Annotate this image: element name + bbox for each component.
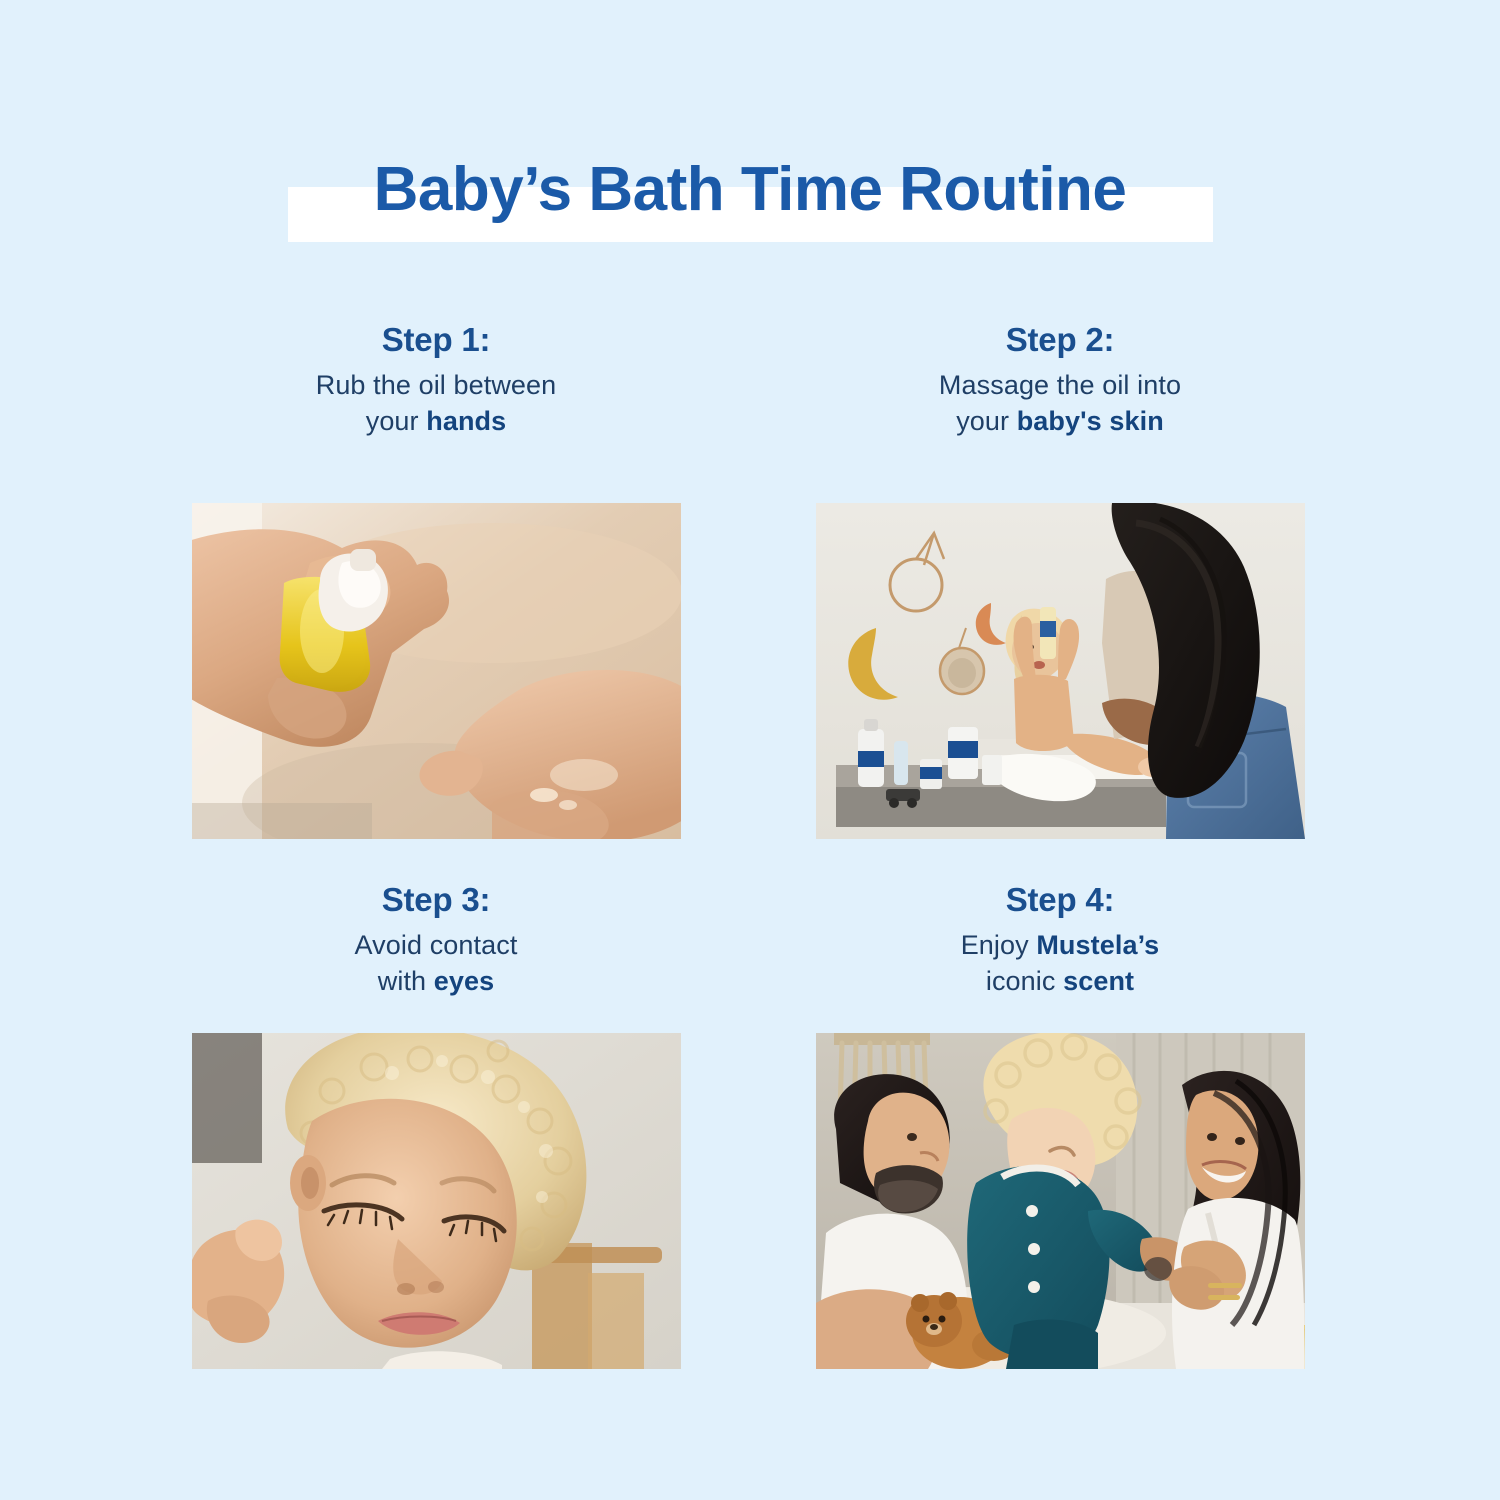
step-2-desc-line2-prefix: your [956, 406, 1017, 436]
step-3-description: Avoid contact with eyes [156, 927, 716, 999]
step-1-desc-line2-prefix: your [366, 406, 427, 436]
step-4-desc-line2-prefix: iconic [986, 966, 1063, 996]
step-3-desc-line2-bold: eyes [434, 966, 494, 996]
step-4-heading: Step 4: [780, 878, 1340, 922]
step-1-text-block: Step 1: Rub the oil between your hands [156, 318, 716, 439]
step-3-heading: Step 3: [156, 878, 716, 922]
step-2-description: Massage the oil into your baby's skin [780, 367, 1340, 439]
step-3-desc-line1: Avoid contact [355, 930, 518, 960]
step-2-heading: Step 2: [780, 318, 1340, 362]
step-4-photo [816, 1033, 1305, 1369]
step-3-photo [192, 1033, 681, 1369]
step-2-desc-line2-bold: baby's skin [1017, 406, 1164, 436]
step-4-desc-line2-bold: scent [1063, 966, 1134, 996]
step-1-desc-line2-bold: hands [426, 406, 506, 436]
step-4-description: Enjoy Mustela’s iconic scent [780, 927, 1340, 999]
infographic-page: Baby’s Bath Time Routine Step 1: Rub the… [0, 0, 1500, 1500]
step-4-text-block: Step 4: Enjoy Mustela’s iconic scent [780, 878, 1340, 999]
step-2-photo [816, 503, 1305, 839]
step-2-desc-line1: Massage the oil into [939, 370, 1181, 400]
step-4-desc-line1-prefix: Enjoy [961, 930, 1037, 960]
steps-grid: Step 1: Rub the oil between your hands S… [0, 0, 1500, 1500]
step-1-heading: Step 1: [156, 318, 716, 362]
step-1-description: Rub the oil between your hands [156, 367, 716, 439]
step-1-photo [192, 503, 681, 839]
step-1-desc-line1: Rub the oil between [316, 370, 557, 400]
step-2-text-block: Step 2: Massage the oil into your baby's… [780, 318, 1340, 439]
step-3-text-block: Step 3: Avoid contact with eyes [156, 878, 716, 999]
step-4-desc-line1-bold: Mustela’s [1036, 930, 1159, 960]
step-3-desc-line2-prefix: with [378, 966, 434, 996]
